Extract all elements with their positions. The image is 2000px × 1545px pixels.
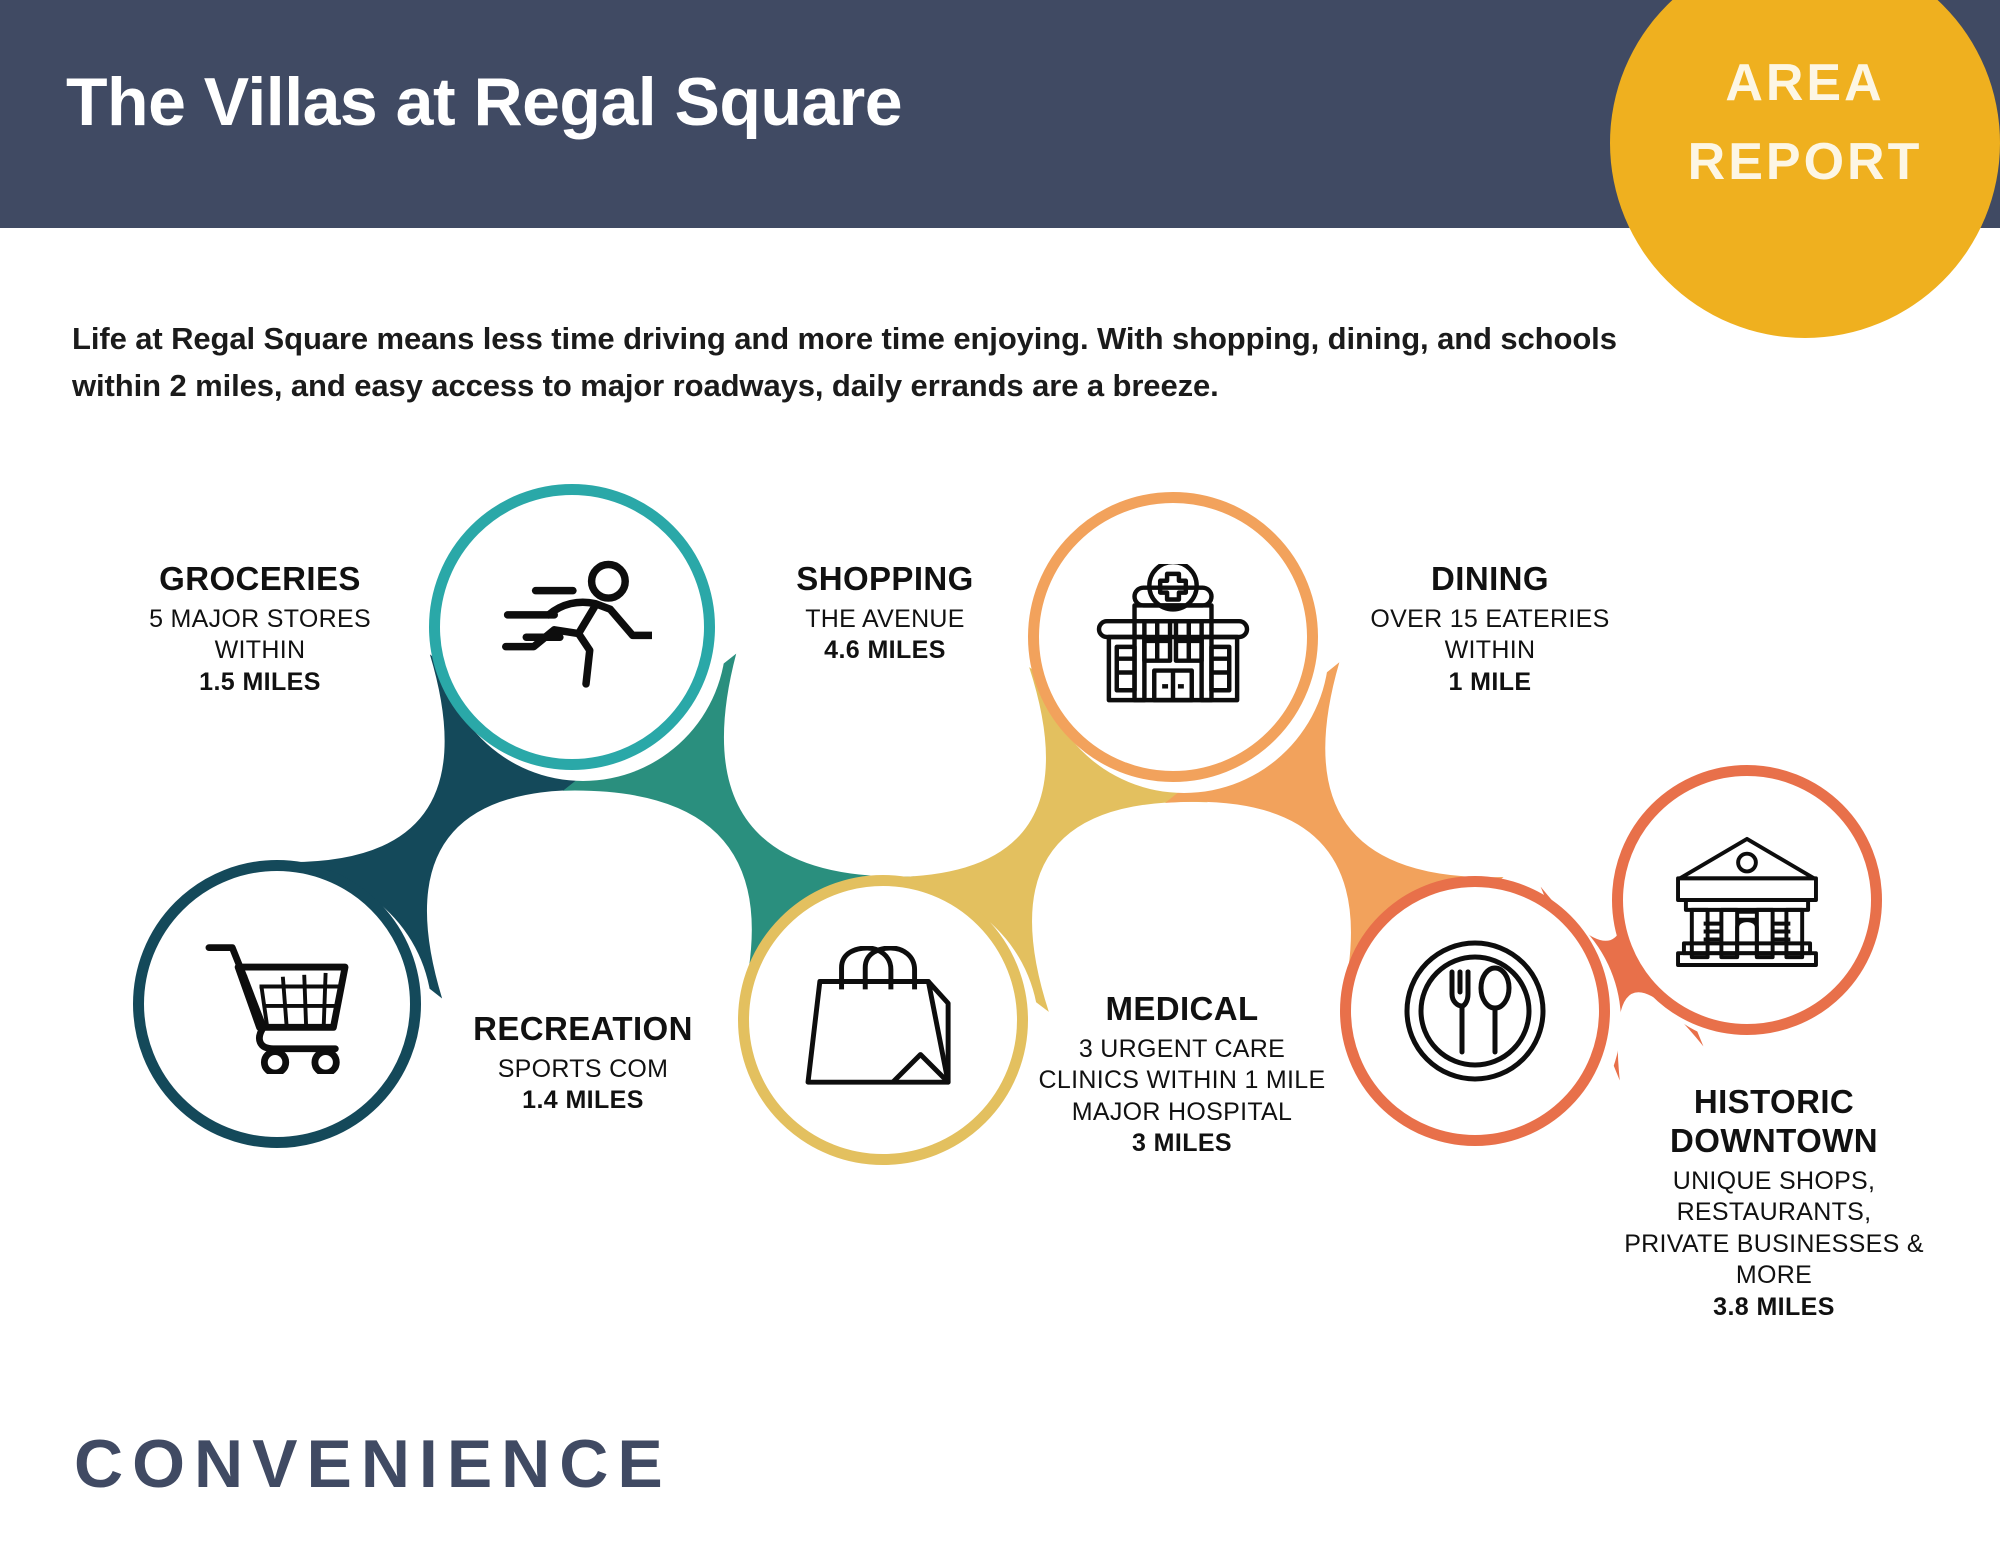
label-sub-0: OVER 15 EATERIES — [1330, 604, 1650, 636]
label-sub-1: RESTAURANTS, — [1614, 1197, 1934, 1229]
area-report-badge: AREA REPORT — [1610, 0, 2000, 338]
badge-text: AREA REPORT — [1610, 44, 2000, 202]
bank-building-icon — [1670, 833, 1824, 967]
convenience-diagram: GROCERIES 5 MAJOR STORES WITHIN 1.5 MILE… — [0, 560, 2000, 1370]
intro-paragraph: Life at Regal Square means less time dri… — [72, 315, 1617, 409]
label-title: RECREATION — [428, 1010, 738, 1049]
label-title: HISTORIC DOWNTOWN — [1614, 1083, 1934, 1161]
plate-fork-spoon-icon — [1400, 936, 1550, 1086]
label-title: MEDICAL — [1012, 990, 1352, 1029]
label-sub-3: MORE — [1614, 1260, 1934, 1292]
circle-dining[interactable] — [1340, 876, 1610, 1146]
label-distance: 1.4 MILES — [428, 1085, 738, 1117]
circle-groceries[interactable] — [133, 860, 421, 1148]
label-groceries: GROCERIES 5 MAJOR STORES WITHIN 1.5 MILE… — [105, 560, 415, 698]
running-person-icon — [492, 557, 652, 697]
label-sub-2: PRIVATE BUSINESSES & — [1614, 1229, 1934, 1261]
shopping-bag-icon — [804, 946, 962, 1094]
circle-historic-downtown[interactable] — [1612, 765, 1882, 1035]
circle-shopping[interactable] — [738, 875, 1028, 1165]
label-distance: 3 MILES — [1012, 1128, 1352, 1160]
label-sub-2: MAJOR HOSPITAL — [1012, 1097, 1352, 1129]
circle-recreation[interactable] — [429, 484, 715, 770]
label-distance: 1 MILE — [1330, 667, 1650, 699]
label-sub-0: SPORTS COM — [428, 1054, 738, 1086]
label-title: SHOPPING — [730, 560, 1040, 599]
hospital-icon — [1089, 564, 1257, 710]
footer-word: CONVENIENCE — [74, 1430, 672, 1498]
page-title: The Villas at Regal Square — [66, 68, 902, 136]
shopping-cart-icon — [199, 934, 355, 1074]
badge-line-2: REPORT — [1610, 123, 2000, 202]
label-sub-0: 5 MAJOR STORES — [105, 604, 415, 636]
label-sub-0: THE AVENUE — [730, 604, 1040, 636]
label-historic-downtown: HISTORIC DOWNTOWN UNIQUE SHOPS, RESTAURA… — [1614, 1083, 1934, 1323]
label-shopping: SHOPPING THE AVENUE 4.6 MILES — [730, 560, 1040, 667]
label-dining: DINING OVER 15 EATERIES WITHIN 1 MILE — [1330, 560, 1650, 698]
label-recreation: RECREATION SPORTS COM 1.4 MILES — [428, 1010, 738, 1117]
label-sub-1: CLINICS WITHIN 1 MILE — [1012, 1065, 1352, 1097]
label-sub-1: WITHIN — [105, 635, 415, 667]
circle-medical[interactable] — [1028, 492, 1318, 782]
label-distance: 4.6 MILES — [730, 635, 1040, 667]
label-sub-1: WITHIN — [1330, 635, 1650, 667]
label-medical: MEDICAL 3 URGENT CARE CLINICS WITHIN 1 M… — [1012, 990, 1352, 1160]
badge-line-1: AREA — [1610, 44, 2000, 123]
label-title: DINING — [1330, 560, 1650, 599]
label-title: GROCERIES — [105, 560, 415, 599]
label-distance: 1.5 MILES — [105, 667, 415, 699]
label-sub-0: UNIQUE SHOPS, — [1614, 1166, 1934, 1198]
label-sub-0: 3 URGENT CARE — [1012, 1034, 1352, 1066]
label-distance: 3.8 MILES — [1614, 1292, 1934, 1324]
